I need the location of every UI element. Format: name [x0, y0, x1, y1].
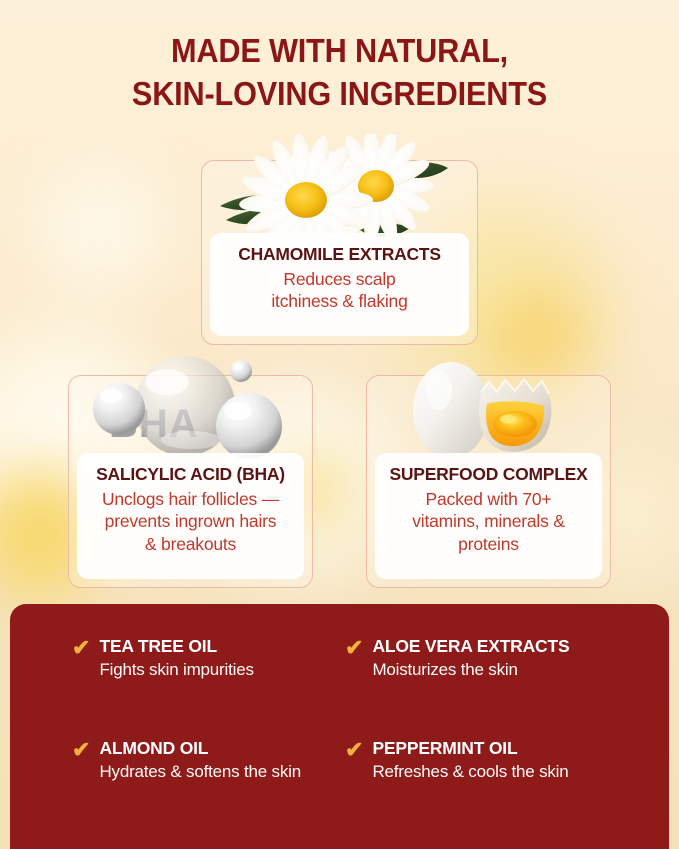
card-description-line: Reduces scalp	[218, 268, 461, 290]
ingredient-card-superfood-complex: SUPERFOOD COMPLEX Packed with 70+ vitami…	[366, 375, 611, 588]
bha-watermark-label: BHA	[109, 402, 199, 447]
benefit-description: Fights skin impurities	[99, 659, 344, 682]
card-description-line: proteins	[383, 533, 594, 555]
leaf-group	[220, 162, 448, 236]
benefit-description: Hydrates & softens the skin	[99, 761, 344, 784]
benefit-text-block: PEPPERMINT OIL Refreshes & cools the ski…	[372, 738, 635, 784]
card-description-line: Packed with 70+	[383, 488, 594, 510]
headline-line-1: MADE WITH NATURAL,	[24, 30, 655, 73]
headline-line-2: SKIN-LOVING INGREDIENTS	[24, 73, 655, 116]
benefit-item-aloe-vera-extracts: ✔ ALOE VERA EXTRACTS Moisturizes the ski…	[345, 636, 635, 682]
card-description-line: Unclogs hair follicles —	[85, 488, 296, 510]
cracked-egg-half	[479, 379, 551, 452]
card-description-line: vitamins, minerals &	[383, 510, 594, 532]
benefit-title: ALOE VERA EXTRACTS	[372, 636, 635, 656]
bubble-right	[216, 393, 282, 459]
checkmark-icon: ✔	[72, 637, 90, 659]
background-bokeh-bloom	[0, 140, 200, 320]
card-title: SUPERFOOD COMPLEX	[383, 464, 594, 485]
benefit-title: PEPPERMINT OIL	[372, 738, 635, 758]
ingredient-card-chamomile: CHAMOMILE EXTRACTS Reduces scalp itchine…	[201, 160, 478, 345]
card-description: Packed with 70+ vitamins, minerals & pro…	[383, 488, 594, 555]
benefit-title: TEA TREE OIL	[99, 636, 344, 656]
card-title: CHAMOMILE EXTRACTS	[218, 244, 461, 265]
benefit-text-block: TEA TREE OIL Fights skin impurities	[99, 636, 344, 682]
card-text-panel: SALICYLIC ACID (BHA) Unclogs hair follic…	[77, 453, 304, 579]
checkmark-icon: ✔	[345, 739, 363, 761]
checkmark-icon: ✔	[345, 637, 363, 659]
card-description-line: & breakouts	[85, 533, 296, 555]
card-title: SALICYLIC ACID (BHA)	[85, 464, 296, 485]
cracked-egg-icon	[403, 358, 593, 468]
card-description: Reduces scalp itchiness & flaking	[218, 268, 461, 313]
ingredients-infographic: MADE WITH NATURAL, SKIN-LOVING INGREDIEN…	[0, 0, 679, 849]
card-description-line: itchiness & flaking	[218, 290, 461, 312]
benefit-item-tea-tree-oil: ✔ TEA TREE OIL Fights skin impurities	[72, 636, 344, 682]
card-description-line: prevents ingrown hairs	[85, 510, 296, 532]
benefit-item-peppermint-oil: ✔ PEPPERMINT OIL Refreshes & cools the s…	[345, 738, 635, 784]
benefit-description: Refreshes & cools the skin	[372, 761, 635, 784]
page-title: MADE WITH NATURAL, SKIN-LOVING INGREDIEN…	[24, 30, 655, 116]
checkmark-icon: ✔	[72, 739, 90, 761]
egg-yolk	[493, 411, 537, 437]
benefit-text-block: ALOE VERA EXTRACTS Moisturizes the skin	[372, 636, 635, 682]
bubble-left	[93, 383, 145, 435]
ingredient-card-salicylic-acid: BHA	[68, 375, 313, 588]
benefit-description: Moisturizes the skin	[372, 659, 635, 682]
benefit-text-block: ALMOND OIL Hydrates & softens the skin	[99, 738, 344, 784]
whole-egg	[413, 362, 489, 458]
card-description: Unclogs hair follicles — prevents ingrow…	[85, 488, 296, 555]
benefit-title: ALMOND OIL	[99, 738, 344, 758]
card-text-panel: CHAMOMILE EXTRACTS Reduces scalp itchine…	[210, 233, 469, 336]
card-text-panel: SUPERFOOD COMPLEX Packed with 70+ vitami…	[375, 453, 602, 579]
benefit-item-almond-oil: ✔ ALMOND OIL Hydrates & softens the skin	[72, 738, 344, 784]
